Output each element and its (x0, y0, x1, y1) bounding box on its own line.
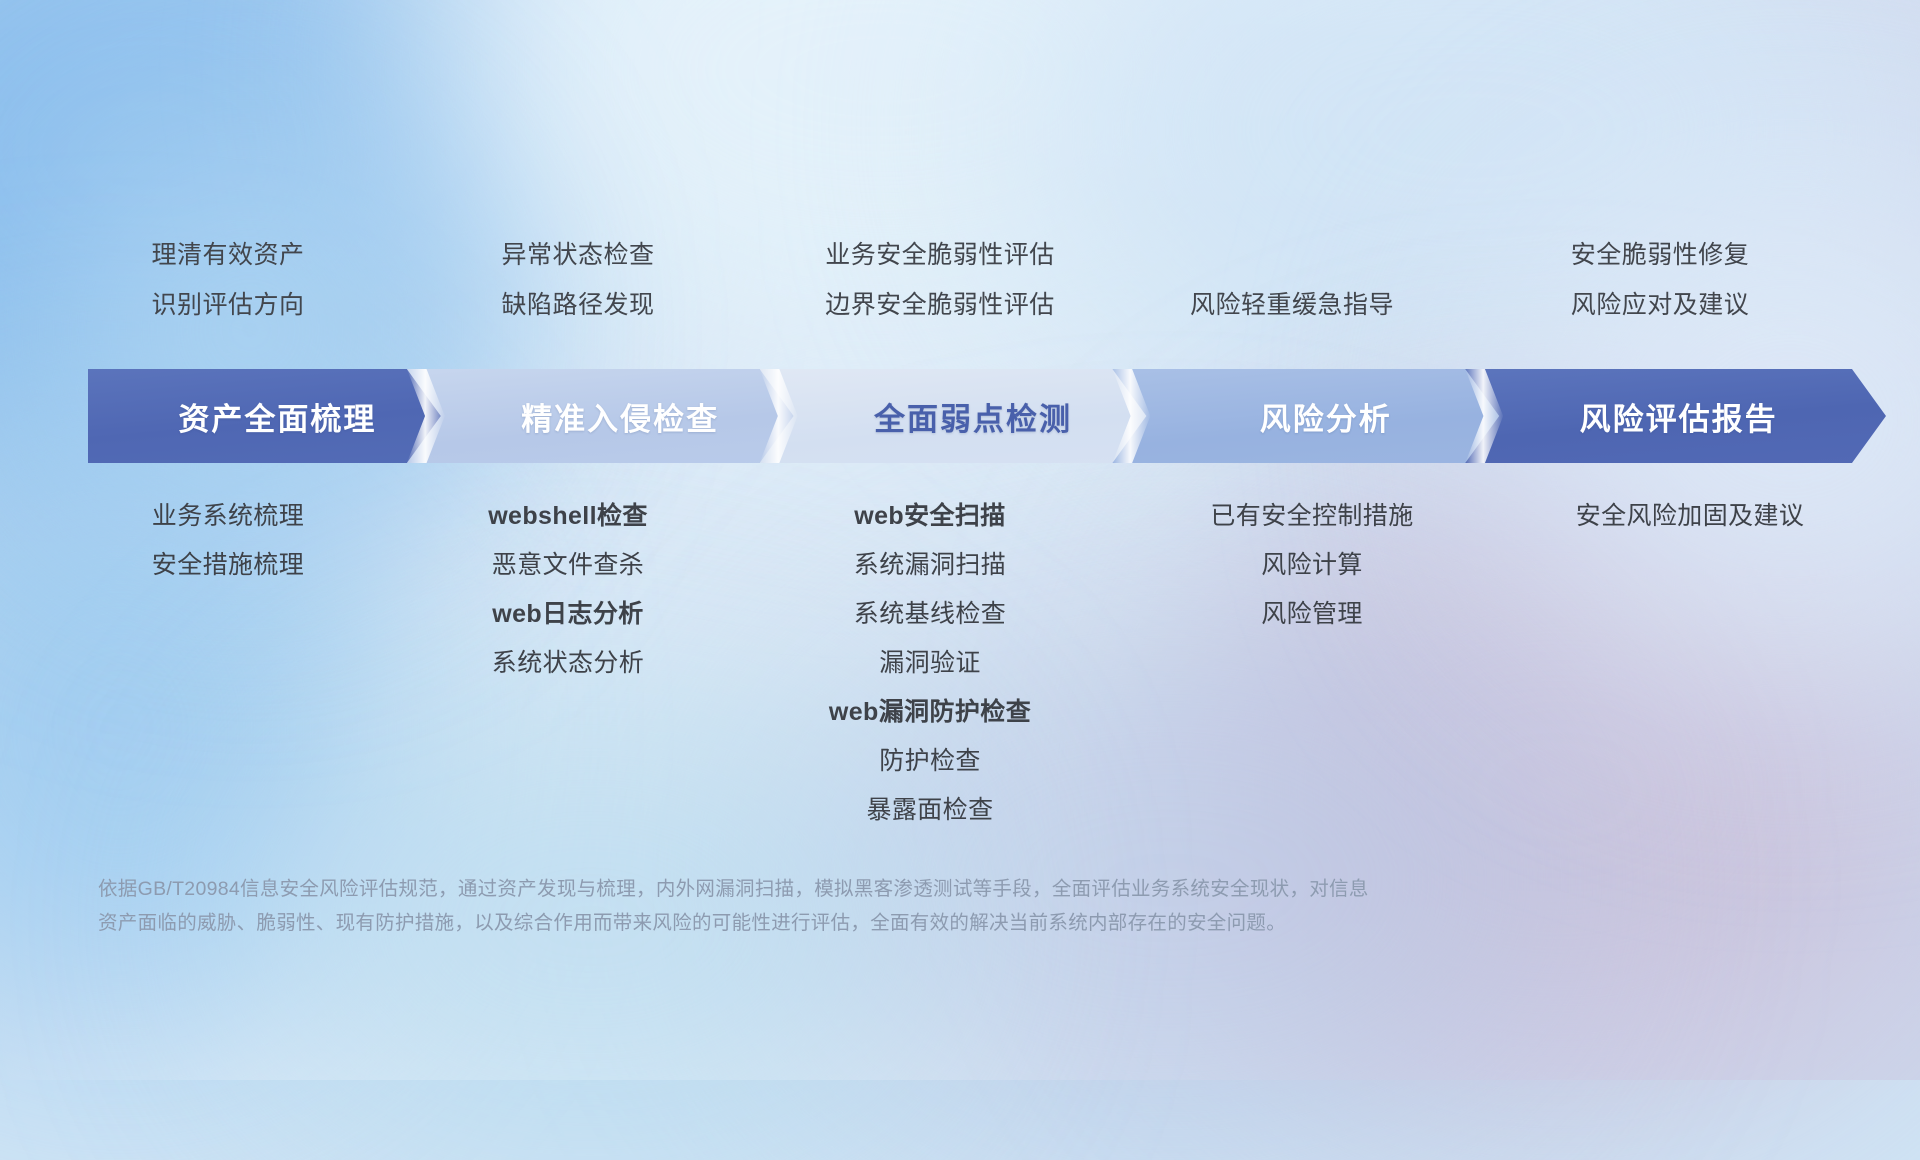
process-diagram: 理清有效资产异常状态检查业务安全脆弱性评估安全脆弱性修复 识别评估方向缺陷路径发… (0, 0, 1920, 1080)
footer-line-2: 资产面临的威胁、脆弱性、现有防护措施，以及综合作用而带来风险的可能性进行评估，全… (98, 906, 1618, 940)
stage-label: 精准入侵检查 (521, 394, 719, 439)
detail-item: 系统状态分析 (492, 639, 644, 688)
detail-column-5: 安全风险加固及建议 (1440, 492, 1920, 541)
detail-item: 系统漏洞扫描 (854, 541, 1006, 590)
stage-label: 风险评估报告 (1580, 394, 1778, 439)
detail-item: web漏洞防护检查 (829, 688, 1031, 737)
stage-chevron-1[interactable]: 资产全面梳理 (88, 369, 475, 463)
detail-item: 漏洞验证 (879, 639, 981, 688)
stage-label: 全面弱点检测 (874, 394, 1072, 439)
footer-description: 依据GB/T20984信息安全风险评估规范，通过资产发现与梳理，内外网漏洞扫描，… (98, 872, 1618, 940)
detail-item: 恶意文件查杀 (492, 541, 644, 590)
footer-line-1: 依据GB/T20984信息安全风险评估规范，通过资产发现与梳理，内外网漏洞扫描，… (98, 872, 1618, 906)
detail-item: 防护检查 (879, 737, 981, 786)
detail-item: 暴露面检查 (866, 786, 993, 835)
detail-item: 安全风险加固及建议 (1576, 492, 1805, 541)
detail-item: 风险计算 (1261, 541, 1363, 590)
detail-item: 安全措施梳理 (152, 541, 304, 590)
detail-item: 业务系统梳理 (152, 492, 304, 541)
detail-item: webshell检查 (488, 492, 648, 541)
stage-chevron-3[interactable]: 全面弱点检测 (760, 369, 1181, 463)
stage-chevron-4[interactable]: 风险分析 (1112, 369, 1533, 463)
top-label: 业务安全脆弱性评估 (710, 230, 1170, 280)
detail-item: web安全扫描 (854, 492, 1005, 541)
stage-chevron-5[interactable]: 风险评估报告 (1465, 369, 1886, 463)
stage-label: 风险分析 (1260, 394, 1392, 439)
top-label: 安全脆弱性修复 (1430, 230, 1890, 280)
detail-item: 已有安全控制措施 (1210, 492, 1413, 541)
stage-banner: 资产全面梳理精准入侵检查全面弱点检测风险分析风险评估报告 (88, 369, 1852, 463)
detail-item: 风险管理 (1261, 590, 1363, 639)
top-label: 风险应对及建议 (1430, 280, 1890, 330)
stage-chevron-2[interactable]: 精准入侵检查 (407, 369, 828, 463)
detail-item: 系统基线检查 (854, 590, 1006, 639)
stage-label: 资产全面梳理 (178, 394, 376, 439)
detail-item: web日志分析 (492, 590, 643, 639)
